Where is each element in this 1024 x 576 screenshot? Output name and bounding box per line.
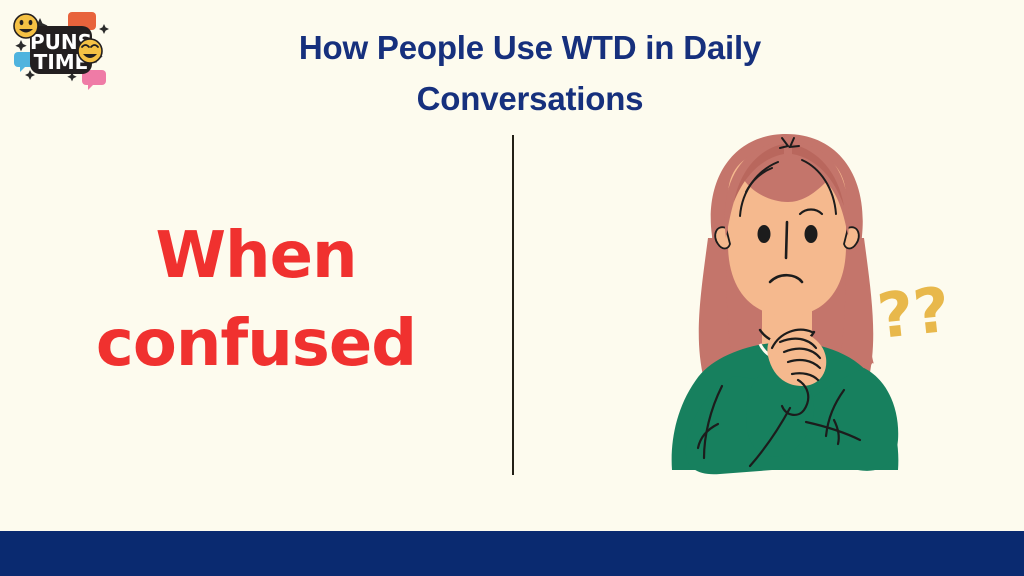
- nose: [786, 222, 787, 258]
- illustration-artwork: ??: [612, 118, 960, 490]
- headline-line-2: confused: [36, 300, 476, 388]
- slide-canvas: PUNS TIME How People Use WTD in Daily Co…: [0, 0, 1024, 576]
- laughing-face-icon: [78, 39, 102, 63]
- confused-woman-illustration: ??: [612, 118, 960, 490]
- question-marks-icon: ??: [874, 273, 953, 353]
- logo-artwork: PUNS TIME: [6, 4, 118, 92]
- title-line-2: Conversations: [150, 73, 910, 124]
- bottom-accent-bar: [0, 531, 1024, 576]
- vertical-divider: [512, 135, 514, 475]
- eye-right: [805, 225, 818, 243]
- puns-time-logo[interactable]: PUNS TIME: [6, 4, 118, 92]
- headline-text: When confused: [36, 212, 476, 388]
- page-title: How People Use WTD in Daily Conversation…: [150, 22, 910, 124]
- title-line-1: How People Use WTD in Daily: [150, 22, 910, 73]
- headline-line-1: When: [36, 212, 476, 300]
- eye-left: [758, 225, 771, 243]
- smiley-face-icon: [14, 14, 38, 38]
